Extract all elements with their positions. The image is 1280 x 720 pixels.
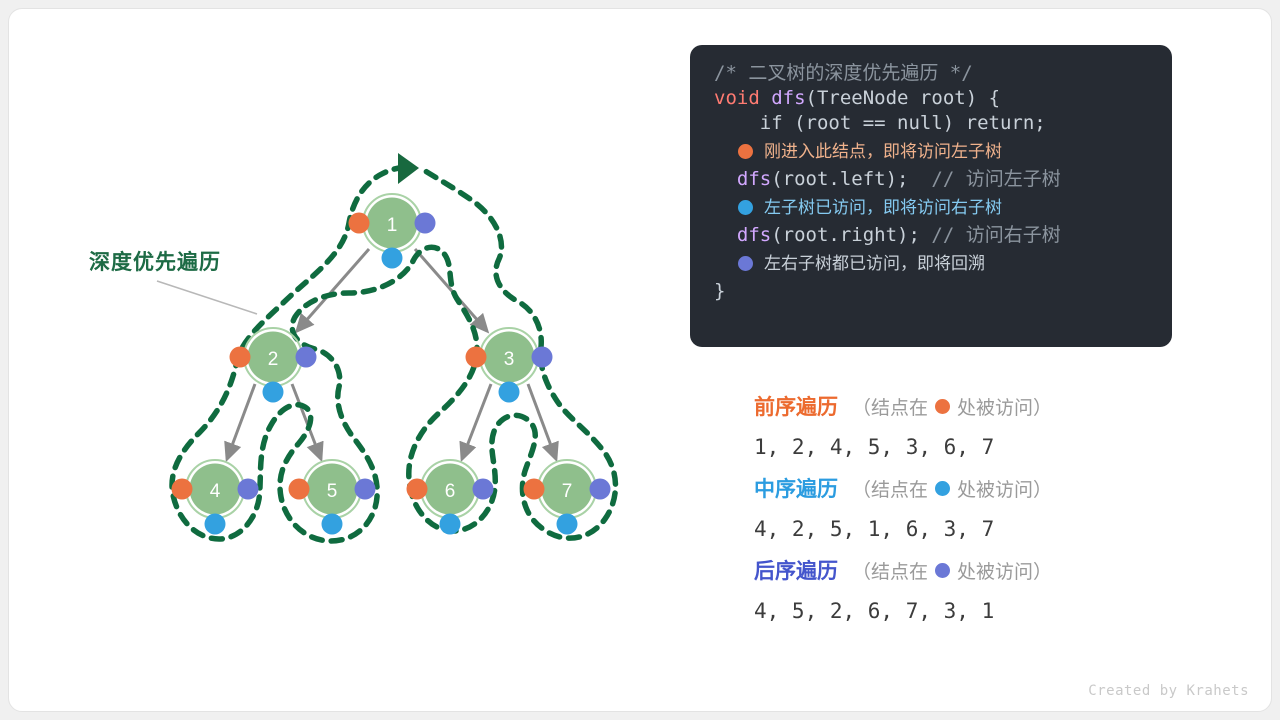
postorder-dot xyxy=(532,347,553,368)
node-label: 4 xyxy=(210,481,221,502)
label-leader-line xyxy=(157,281,257,314)
marker-dot-icon xyxy=(935,563,950,578)
node-label: 5 xyxy=(327,481,338,502)
code-token: dfs xyxy=(737,224,771,246)
code-token: dfs xyxy=(737,168,771,190)
tree-node-2[interactable]: 2 xyxy=(230,328,317,403)
postorder-dot xyxy=(590,479,611,500)
marker-dot-icon xyxy=(738,200,753,215)
preorder-dot xyxy=(230,347,251,368)
preorder-dot xyxy=(349,213,370,234)
tree-node-6[interactable]: 6 xyxy=(407,460,494,535)
note-suffix: 处被访问） xyxy=(957,557,1052,584)
code-token: } xyxy=(714,280,725,302)
postorder-dot xyxy=(238,479,259,500)
traversal-sequence: 1, 2, 4, 5, 3, 6, 7 xyxy=(754,423,1174,471)
dfs-annotation-label: 深度优先遍历 xyxy=(89,246,221,276)
code-token: // 访问左子树 xyxy=(931,168,1060,190)
preorder-dot xyxy=(172,479,193,500)
annotation-text: 刚进入此结点，即将访问左子树 xyxy=(764,136,1002,167)
code-line: dfs(root.right); // 访问右子树 xyxy=(690,223,1172,248)
postorder-dot xyxy=(355,479,376,500)
traversal-note: （结点在处被访问） xyxy=(852,475,1052,502)
code-line: } xyxy=(690,279,1172,304)
inorder-dot xyxy=(440,514,461,535)
code-annotation-line: 刚进入此结点，即将访问左子树 xyxy=(690,136,1172,167)
note-suffix: 处被访问） xyxy=(957,393,1052,420)
annotation-text: 左子树已访问，即将访问右子树 xyxy=(764,192,1002,223)
traversal-name: 后序遍历 xyxy=(754,555,838,585)
traversal-name: 中序遍历 xyxy=(754,473,838,503)
note-prefix: （结点在 xyxy=(852,557,928,584)
preorder-dot xyxy=(407,479,428,500)
code-token: /* 二叉树的深度优先遍历 */ xyxy=(714,62,973,84)
traversal-sequence: 4, 5, 2, 6, 7, 3, 1 xyxy=(754,587,1174,635)
code-annotation-line: 左子树已访问，即将访问右子树 xyxy=(690,192,1172,223)
note-prefix: （结点在 xyxy=(852,475,928,502)
code-token: if (root == null) return; xyxy=(714,112,1046,134)
traversal-sequence: 4, 2, 5, 1, 6, 3, 7 xyxy=(754,505,1174,553)
traversal-name: 前序遍历 xyxy=(754,391,838,421)
marker-dot-icon xyxy=(935,481,950,496)
code-token xyxy=(714,168,737,190)
code-line: if (root == null) return; xyxy=(690,111,1172,136)
node-label: 2 xyxy=(268,349,279,370)
code-token: (root.left); xyxy=(771,168,931,190)
inorder-dot xyxy=(557,514,578,535)
node-label: 7 xyxy=(562,481,573,502)
traversal-results: 前序遍历（结点在处被访问）1, 2, 4, 5, 3, 6, 7中序遍历（结点在… xyxy=(754,389,1174,635)
postorder-dot xyxy=(296,347,317,368)
code-token: void xyxy=(714,87,760,109)
code-block: /* 二叉树的深度优先遍历 */void dfs(TreeNode root) … xyxy=(690,45,1172,347)
code-token: dfs xyxy=(771,87,805,109)
code-line: void dfs(TreeNode root) { xyxy=(690,86,1172,111)
code-token xyxy=(760,87,771,109)
play-triangle-icon xyxy=(398,153,419,184)
code-token: (TreeNode root) { xyxy=(806,87,1000,109)
annotation-text: 左右子树都已访问，即将回溯 xyxy=(764,248,985,279)
figure-card: 1 2 3 xyxy=(8,8,1272,712)
binary-tree-diagram: 1 2 3 xyxy=(9,9,669,712)
code-token: // 访问右子树 xyxy=(931,224,1060,246)
traversal-heading: 后序遍历（结点在处被访问） xyxy=(754,553,1174,587)
inorder-dot xyxy=(322,514,343,535)
code-annotation-line: 左右子树都已访问，即将回溯 xyxy=(690,248,1172,279)
code-line: /* 二叉树的深度优先遍历 */ xyxy=(690,61,1172,86)
marker-dot-icon xyxy=(738,256,753,271)
note-prefix: （结点在 xyxy=(852,393,928,420)
node-label: 1 xyxy=(387,215,398,236)
code-token: (root.right); xyxy=(771,224,931,246)
node-label: 6 xyxy=(445,481,456,502)
inorder-dot xyxy=(499,382,520,403)
traversal-note: （结点在处被访问） xyxy=(852,393,1052,420)
preorder-dot xyxy=(466,347,487,368)
preorder-dot xyxy=(289,479,310,500)
inorder-dot xyxy=(263,382,284,403)
code-token xyxy=(714,224,737,246)
note-suffix: 处被访问） xyxy=(957,475,1052,502)
traversal-heading: 中序遍历（结点在处被访问） xyxy=(754,471,1174,505)
traversal-heading: 前序遍历（结点在处被访问） xyxy=(754,389,1174,423)
postorder-dot xyxy=(473,479,494,500)
tree-node-5[interactable]: 5 xyxy=(289,460,376,535)
marker-dot-icon xyxy=(935,399,950,414)
credit-text: Created by Krahets xyxy=(1088,683,1249,699)
code-line: dfs(root.left); // 访问左子树 xyxy=(690,167,1172,192)
inorder-dot xyxy=(382,248,403,269)
tree-svg: 1 2 3 xyxy=(9,9,669,712)
postorder-dot xyxy=(415,213,436,234)
marker-dot-icon xyxy=(738,144,753,159)
preorder-dot xyxy=(524,479,545,500)
node-label: 3 xyxy=(504,349,515,370)
traversal-note: （结点在处被访问） xyxy=(852,557,1052,584)
inorder-dot xyxy=(205,514,226,535)
